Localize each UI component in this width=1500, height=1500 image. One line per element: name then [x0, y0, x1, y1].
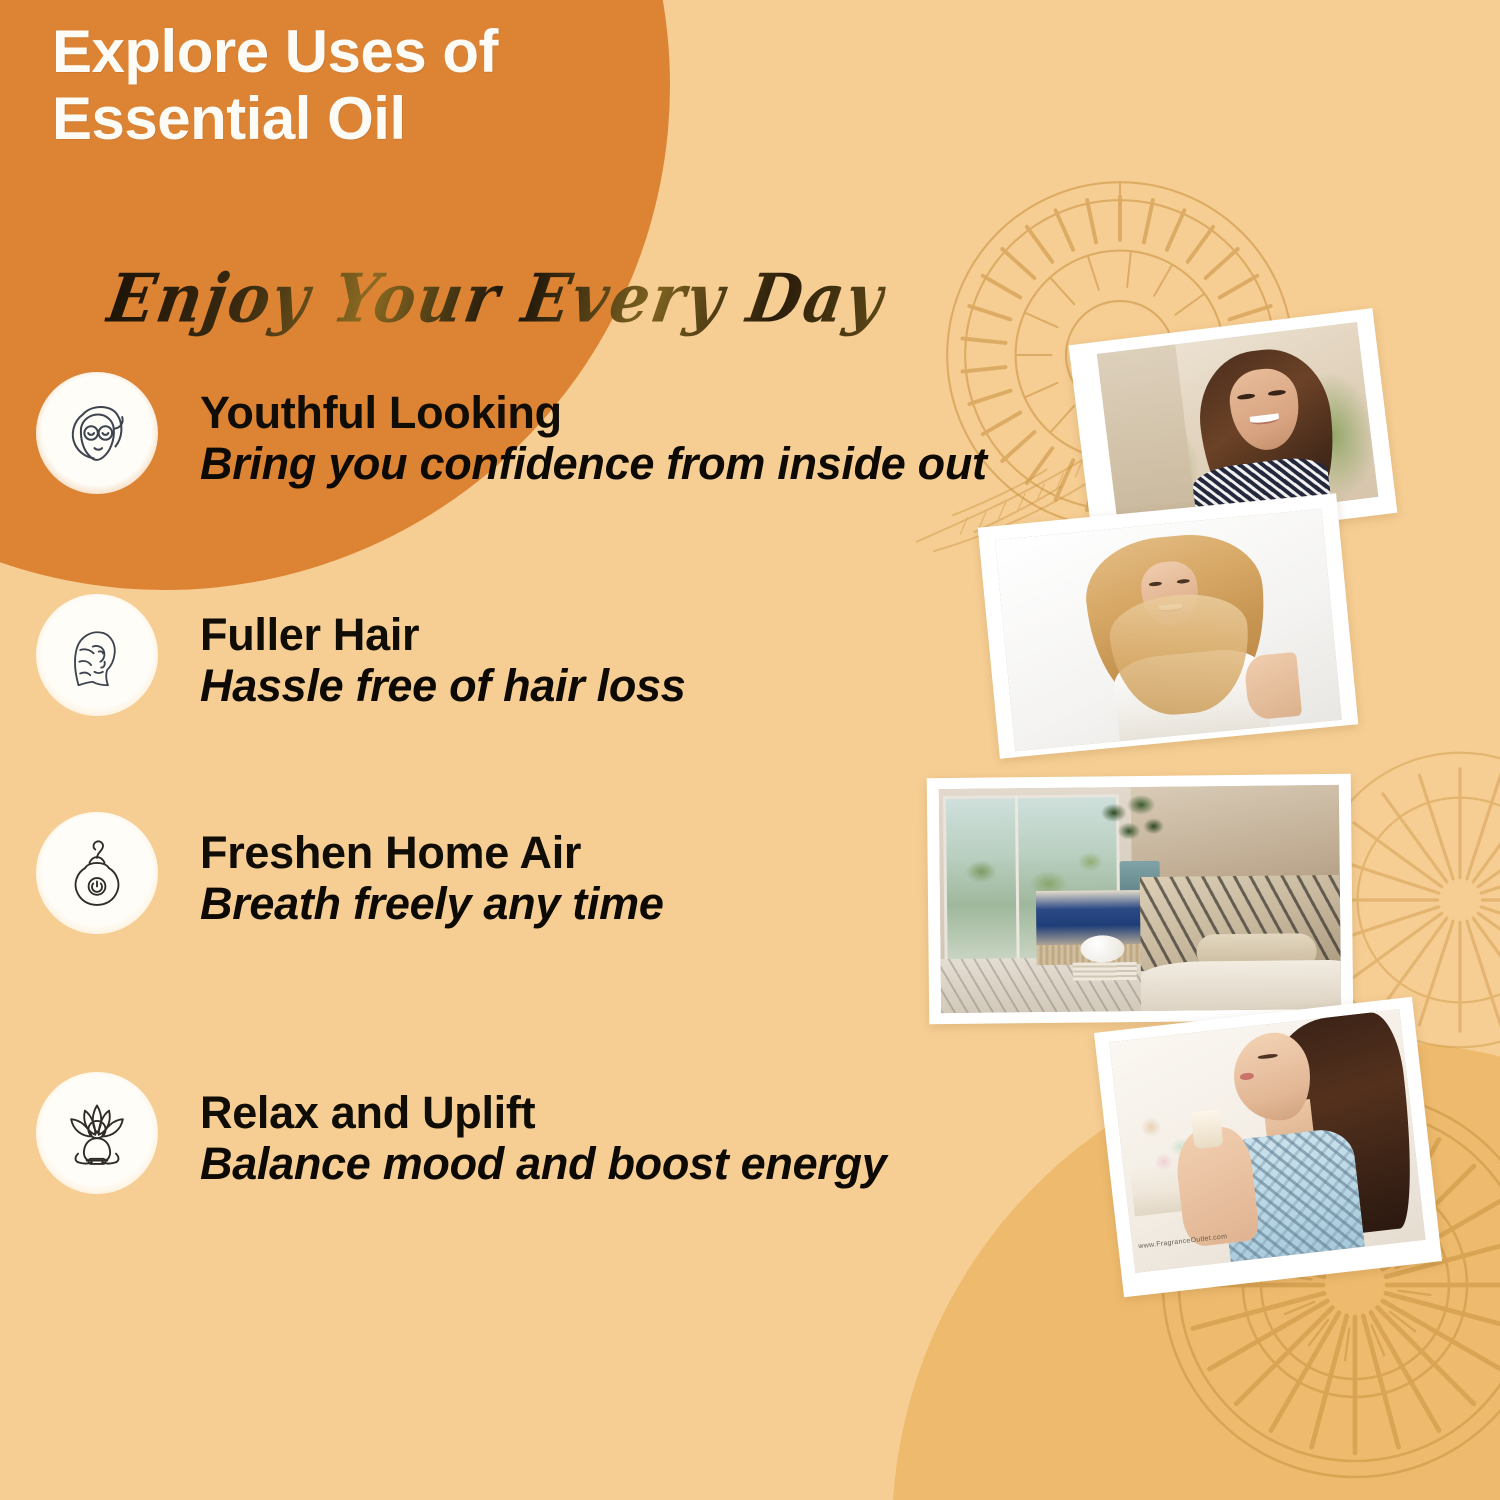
feature-item-relax-and-uplift: Relax and Uplift Balance mood and boost … [36, 1072, 886, 1194]
feature-item-freshen-home-air: Freshen Home Air Breath freely any time [36, 812, 664, 934]
feature-text-block: Fuller Hair Hassle free of hair loss [200, 594, 686, 712]
feature-item-youthful-looking: Youthful Looking Bring you confidence fr… [36, 372, 987, 494]
page-title: Explore Uses of Essential Oil [52, 18, 662, 152]
aroma-diffuser-icon [36, 812, 158, 934]
lotus-meditation-icon [36, 1072, 158, 1194]
feature-title: Youthful Looking [200, 388, 987, 438]
feature-subtitle: Balance mood and boost energy [200, 1138, 886, 1189]
tagline-script-text: Enjoy Your Every Day [102, 259, 891, 338]
feature-text-block: Youthful Looking Bring you confidence fr… [200, 372, 987, 490]
feature-item-fuller-hair: Fuller Hair Hassle free of hair loss [36, 594, 686, 716]
feature-title: Relax and Uplift [200, 1088, 886, 1138]
woman-applying-perfume-photo: www.FragranceOutlet.com [1094, 997, 1442, 1298]
feature-text-block: Relax and Uplift Balance mood and boost … [200, 1072, 886, 1190]
feature-subtitle: Bring you confidence from inside out [200, 438, 987, 489]
boho-living-room-photo [927, 774, 1354, 1024]
face-mask-icon [36, 372, 158, 494]
feature-subtitle: Breath freely any time [200, 878, 664, 929]
photo-image [939, 785, 1341, 1013]
long-hair-profile-icon [36, 594, 158, 716]
feature-subtitle: Hassle free of hair loss [200, 660, 686, 711]
feature-text-block: Freshen Home Air Breath freely any time [200, 812, 664, 930]
photo-image [1109, 1009, 1425, 1273]
feature-title: Fuller Hair [200, 610, 686, 660]
blonde-wavy-hair-photo [978, 493, 1359, 758]
feature-title: Freshen Home Air [200, 828, 664, 878]
essential-oil-infographic: Explore Uses of Essential Oil Enjoy Your… [0, 0, 1500, 1500]
photo-image [995, 509, 1342, 751]
